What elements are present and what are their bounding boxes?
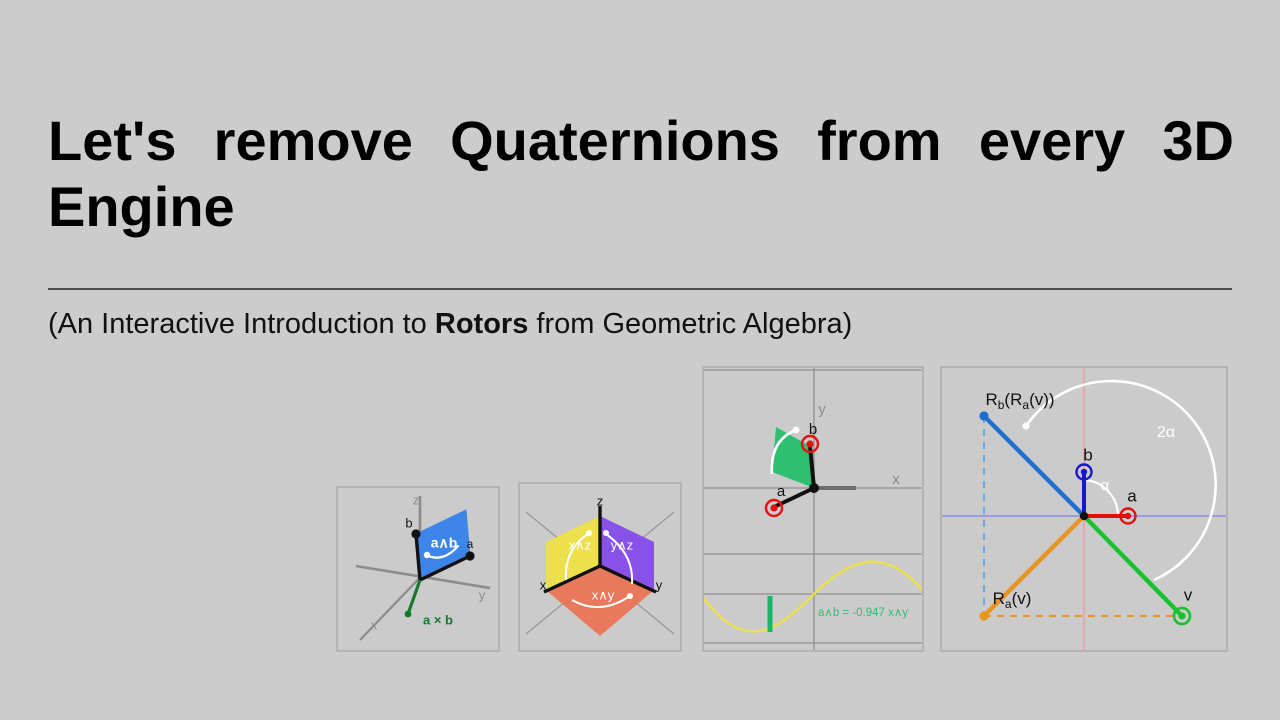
- label-angle-double: 2α: [1157, 424, 1175, 441]
- label-result-R: R: [985, 390, 997, 409]
- label-a: a: [777, 483, 786, 500]
- handle-b[interactable]: [411, 529, 420, 538]
- axis-label-z: z: [597, 493, 604, 508]
- axis-label-y: y: [656, 577, 663, 592]
- orientation-dot: [424, 552, 430, 558]
- page-title: Let's remove Quaternions from every 3D E…: [48, 108, 1234, 240]
- label-cross-product: a × b: [423, 612, 453, 627]
- figure-wedge-3d[interactable]: z y x b a a∧b a × b: [336, 486, 500, 652]
- title-divider: [48, 288, 1232, 290]
- wedge-2d-canvas[interactable]: y x b a a∧b = -0.947 x∧y: [704, 368, 922, 650]
- vector-result-tip: [979, 411, 988, 420]
- vector-intermediate-tip: [979, 611, 988, 620]
- axis-label-y: y: [818, 401, 826, 418]
- axis-label-x: x: [892, 471, 900, 488]
- handle-a[interactable]: [770, 504, 777, 511]
- label-intermediate-R: R: [993, 589, 1005, 608]
- label-result-close: (v)): [1029, 390, 1054, 409]
- axis-label-x: x: [540, 577, 547, 592]
- axis-label-z: z: [413, 492, 420, 507]
- orientation-dot: [793, 427, 800, 434]
- label-b: b: [405, 515, 412, 530]
- label-bivector: a∧b: [431, 535, 458, 551]
- title-block: Let's remove Quaternions from every 3D E…: [48, 108, 1234, 240]
- axis-label-y: y: [479, 587, 486, 602]
- label-b: b: [809, 421, 817, 438]
- vector-v-line: [1084, 516, 1182, 616]
- arc-xz-dot: [586, 530, 592, 536]
- magnitude-readout: a∧b = -0.947 x∧y: [818, 607, 908, 619]
- figure-rotor-double-reflection[interactable]: 2α α Rb(Ra(v)) Ra(v) v: [940, 366, 1228, 652]
- rotor-canvas[interactable]: 2α α Rb(Ra(v)) Ra(v) v: [942, 368, 1226, 650]
- figure-wedge-2d[interactable]: y x b a a∧b = -0.947 x∧y: [702, 366, 924, 652]
- label-v: v: [1184, 585, 1193, 604]
- origin-dot: [809, 483, 819, 493]
- label-angle-small: α: [1101, 477, 1110, 494]
- label-intermediate: Ra(v): [993, 589, 1032, 611]
- label-result: Rb(Ra(v)): [985, 390, 1054, 412]
- vector-result-line: [984, 416, 1084, 516]
- slide-canvas: Let's remove Quaternions from every 3D E…: [0, 0, 1280, 720]
- arc-double-angle: [1026, 381, 1216, 580]
- arc-double-angle-dot: [1022, 422, 1029, 429]
- handle-b[interactable]: [1081, 469, 1087, 475]
- handle-b[interactable]: [806, 440, 813, 447]
- cross-product-tip: [405, 611, 412, 618]
- label-a: a: [467, 537, 474, 551]
- handle-a[interactable]: [1125, 513, 1131, 519]
- label-mirror-b: b: [1083, 445, 1092, 464]
- label-plane-yz: y∧z: [611, 537, 634, 552]
- arc-xy-dot: [627, 593, 633, 599]
- label-result-open: (R: [1004, 390, 1022, 409]
- label-mirror-a: a: [1127, 486, 1137, 505]
- label-plane-xz: x∧z: [569, 537, 592, 552]
- subtitle: (An Interactive Introduction to Rotors f…: [48, 304, 852, 344]
- basis-bivectors-canvas[interactable]: z x y x∧z y∧z x∧y: [520, 484, 680, 650]
- axis-label-x: x: [371, 617, 378, 632]
- subtitle-emphasis: Rotors: [435, 308, 528, 340]
- magnitude-curve: [704, 562, 922, 632]
- arc-yz-dot: [603, 530, 609, 536]
- handle-v[interactable]: [1178, 612, 1185, 619]
- label-intermediate-rest: (v): [1012, 589, 1032, 608]
- subtitle-prefix: (An Interactive Introduction to: [48, 308, 435, 340]
- wedge-3d-canvas[interactable]: z y x b a a∧b a × b: [338, 488, 498, 650]
- label-plane-xy: x∧y: [592, 587, 615, 602]
- origin-dot: [1080, 512, 1088, 520]
- handle-a[interactable]: [465, 551, 474, 560]
- figure-basis-bivectors[interactable]: z x y x∧z y∧z x∧y: [518, 482, 682, 652]
- subtitle-suffix: from Geometric Algebra): [528, 308, 852, 340]
